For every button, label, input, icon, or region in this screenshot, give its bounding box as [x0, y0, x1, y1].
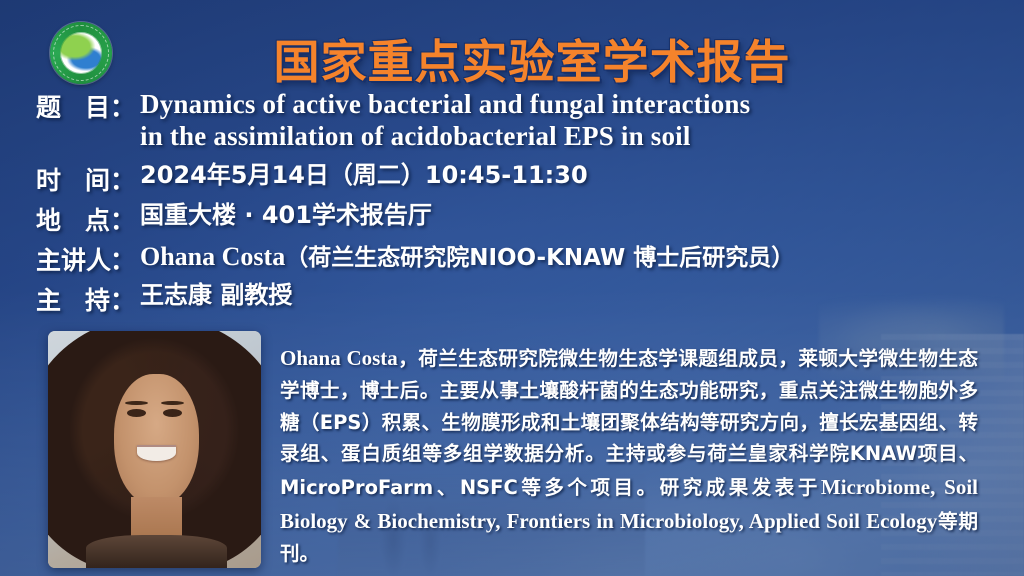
value-location: 国重大楼 · 401学术报告厅 — [140, 201, 1000, 230]
speaker-biography: Ohana Costa，荷兰生态研究院微生物生态学课题组成员，莱顿大学微生物生态… — [272, 331, 990, 568]
value-topic: Dynamics of active bacterial and fungal … — [140, 88, 1000, 153]
label-host: 主持： — [36, 281, 140, 317]
speaker-affiliation: （荷兰生态研究院NIOO-KNAW 博士后研究员） — [285, 245, 794, 271]
value-time: 2024年5月14日（周二）10:45-11:30 — [140, 161, 1000, 190]
info-row-topic: 题目： Dynamics of active bacterial and fun… — [36, 88, 1000, 153]
label-time: 时间： — [36, 161, 140, 197]
info-row-host: 主持： 王志康 副教授 — [36, 281, 1000, 317]
info-block: 题目： Dynamics of active bacterial and fun… — [36, 88, 1000, 321]
portrait-neck — [131, 497, 182, 540]
label-location: 地点： — [36, 201, 140, 237]
info-row-speaker: 主讲人： Ohana Costa（荷兰生态研究院NIOO-KNAW 博士后研究员… — [36, 241, 1000, 277]
topic-line-1: Dynamics of active bacterial and fungal … — [140, 88, 1000, 120]
bio-name: Ohana Costa — [280, 346, 398, 370]
portrait-face — [114, 374, 199, 507]
page-title: 国家重点实验室学术报告 — [0, 26, 1024, 92]
speaker-name: Ohana Costa — [140, 242, 285, 271]
info-row-location: 地点： 国重大楼 · 401学术报告厅 — [36, 201, 1000, 237]
value-host: 王志康 副教授 — [140, 281, 1000, 310]
poster-header: 国家重点实验室学术报告 — [0, 10, 1024, 88]
seminar-poster: 国家重点实验室学术报告 题目： Dynamics of active bacte… — [0, 0, 1024, 576]
portrait-shoulder — [86, 535, 227, 568]
label-speaker: 主讲人： — [36, 241, 140, 277]
info-row-time: 时间： 2024年5月14日（周二）10:45-11:30 — [36, 161, 1000, 197]
label-topic: 题目： — [36, 88, 140, 124]
value-speaker: Ohana Costa（荷兰生态研究院NIOO-KNAW 博士后研究员） — [140, 241, 1000, 273]
topic-line-2: in the assimilation of acidobacterial EP… — [140, 120, 1000, 152]
speaker-portrait — [48, 331, 261, 568]
